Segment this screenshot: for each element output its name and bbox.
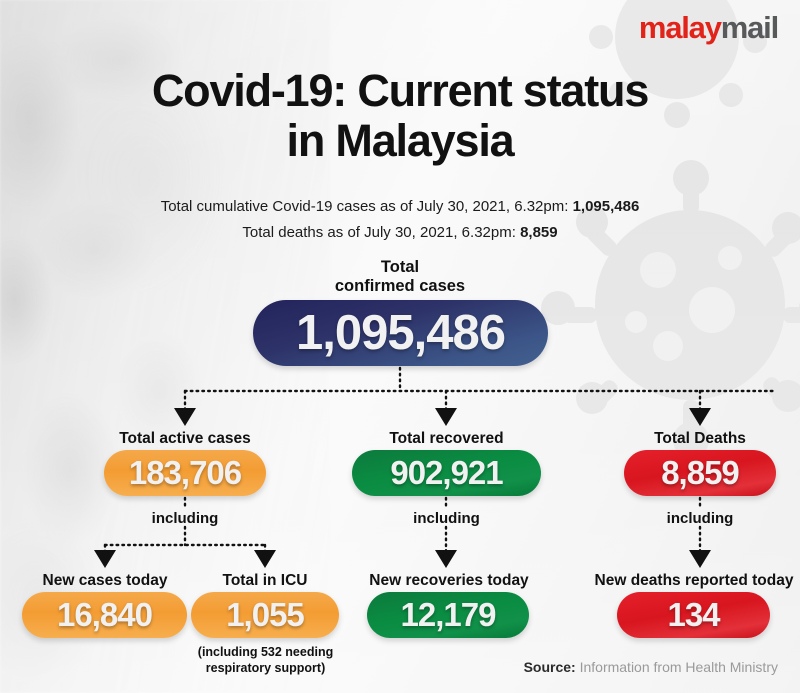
label-total-active-cases: Total active cases bbox=[104, 430, 266, 448]
label-total-confirmed-line1: Total bbox=[381, 258, 419, 276]
logo-text-malay: malay bbox=[639, 10, 721, 45]
subtitle-total-deaths-text: Total deaths as of July 30, 2021, 6.32pm… bbox=[242, 224, 520, 241]
connector-label-including-recovered: including bbox=[352, 510, 541, 527]
label-total-confirmed-cases: Total confirmed cases bbox=[280, 258, 520, 296]
connector-label-including-deaths: including bbox=[624, 510, 776, 527]
stat-total-in-icu: 1,055 bbox=[191, 592, 339, 638]
label-total-recovered: Total recovered bbox=[352, 430, 541, 448]
malaymail-logo[interactable]: malaymail bbox=[639, 12, 778, 43]
stat-total-active-cases: 183,706 bbox=[104, 450, 266, 496]
page-title-line1: Covid-19: Current status bbox=[152, 65, 648, 116]
label-total-in-icu: Total in ICU bbox=[185, 572, 345, 590]
stat-total-recovered: 902,921 bbox=[352, 450, 541, 496]
connector-label-including-active: including bbox=[104, 510, 266, 527]
subtitle-total-deaths: Total deaths as of July 30, 2021, 6.32pm… bbox=[0, 224, 800, 241]
label-new-deaths-reported-today: New deaths reported today bbox=[580, 572, 800, 590]
stat-new-deaths-reported-today: 134 bbox=[617, 592, 770, 638]
source-label: Source: bbox=[524, 659, 576, 675]
label-total-deaths: Total Deaths bbox=[624, 430, 776, 448]
page-title: Covid-19: Current status in Malaysia bbox=[0, 66, 800, 167]
source-text: Information from Health Ministry bbox=[576, 659, 778, 675]
label-new-recoveries-today: New recoveries today bbox=[355, 572, 543, 590]
note-icu-respiratory-support: (including 532 needing respiratory suppo… bbox=[178, 645, 353, 676]
page-title-line2: in Malaysia bbox=[0, 116, 800, 166]
stat-new-cases-today: 16,840 bbox=[22, 592, 187, 638]
stat-new-recoveries-today: 12,179 bbox=[367, 592, 529, 638]
subtitle-total-deaths-value: 8,859 bbox=[520, 224, 558, 241]
subtitle-cumulative-cases-value: 1,095,486 bbox=[573, 198, 640, 215]
label-new-cases-today: New cases today bbox=[10, 572, 200, 590]
logo-text-mail: mail bbox=[721, 10, 778, 45]
source-attribution: Source: Information from Health Ministry bbox=[524, 659, 778, 675]
subtitle-cumulative-cases: Total cumulative Covid-19 cases as of Ju… bbox=[0, 198, 800, 215]
stat-total-confirmed-cases: 1,095,486 bbox=[253, 300, 548, 366]
subtitle-cumulative-cases-text: Total cumulative Covid-19 cases as of Ju… bbox=[161, 198, 573, 215]
stat-total-deaths: 8,859 bbox=[624, 450, 776, 496]
label-total-confirmed-line2: confirmed cases bbox=[335, 277, 465, 295]
